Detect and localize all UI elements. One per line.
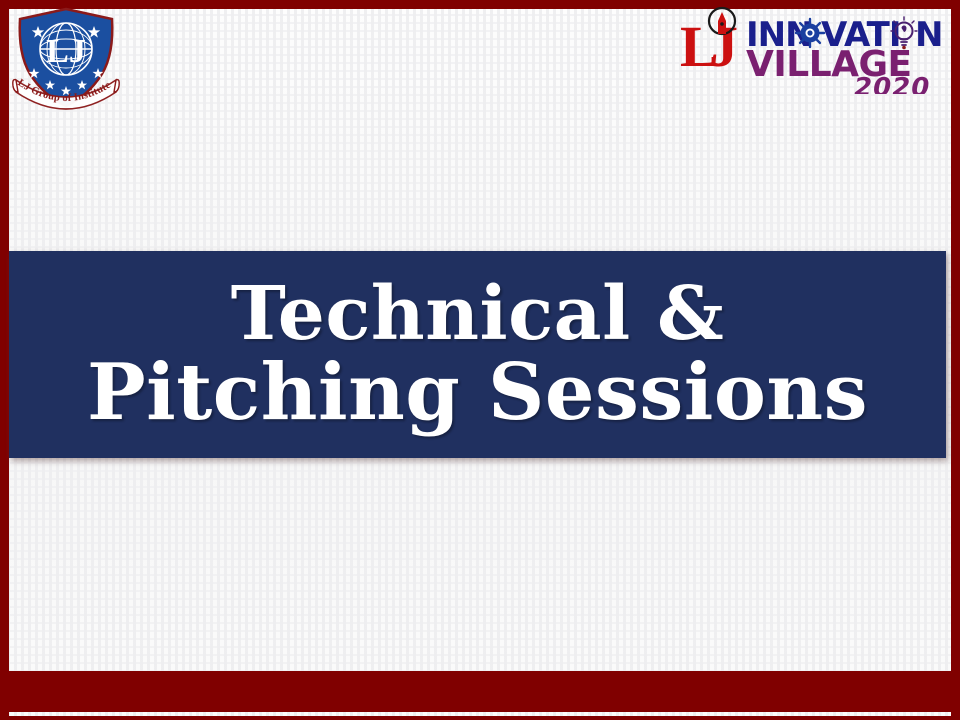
slide-title-banner: Technical & Pitching Sessions: [9, 251, 946, 458]
bottom-hairline-bar: [0, 716, 960, 720]
slide-title-line-2: Pitching Sessions: [87, 355, 868, 431]
gear-sun-icon: [796, 19, 824, 47]
bottom-border-bar: [0, 671, 960, 712]
innovation-text-part-3: N: [915, 15, 942, 55]
shield-monogram: LJ: [46, 33, 86, 70]
presentation-slide: LJ LJ Group of Institutes: [0, 0, 960, 720]
right-border-bar: [951, 0, 960, 720]
event-year-text: 2020: [854, 73, 930, 94]
innovation-village-2020-logo: L J INN: [676, 4, 954, 94]
slide-title-line-1: Technical &: [231, 279, 725, 351]
left-border-bar: [0, 0, 9, 720]
lj-group-shield-logo: LJ LJ Group of Institutes: [10, 6, 122, 114]
